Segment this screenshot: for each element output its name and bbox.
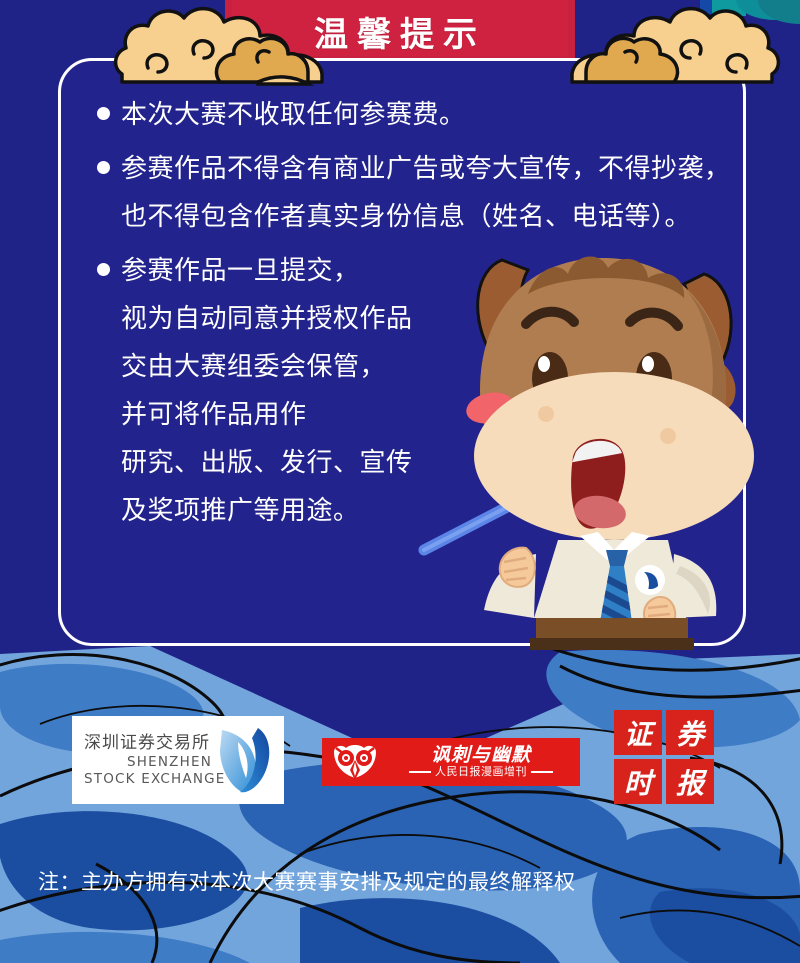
zqsb-char-4: 报 bbox=[666, 759, 714, 804]
szse-name-cn: 深圳证券交易所 bbox=[84, 732, 212, 754]
notice-line: 参赛作品不得含有商业广告或夸大宣传，不得抄袭， bbox=[121, 145, 717, 193]
rule-left bbox=[409, 771, 431, 773]
szse-shield-logo-icon bbox=[212, 724, 278, 796]
footnote-text: 注：主办方拥有对本次大赛赛事安排及规定的最终解释权 bbox=[38, 866, 576, 896]
logo-shenzhen-stock-exchange: 深圳证券交易所 SHENZHEN STOCK EXCHANGE bbox=[72, 716, 284, 804]
poster-stage: 温馨提示 bbox=[0, 0, 800, 963]
owl-pen-icon bbox=[328, 742, 382, 782]
satire-humor-text-block: 讽刺与幽默 人民日报漫画增刊 bbox=[382, 745, 580, 779]
list-item: 参赛作品不得含有商业广告或夸大宣传，不得抄袭， 也不得包含作者真实身份信息（姓名… bbox=[83, 145, 717, 241]
zqsb-char-3: 时 bbox=[614, 759, 662, 804]
ox-mascot-icon bbox=[418, 250, 788, 650]
rule-right bbox=[531, 771, 553, 773]
szse-name-en-line2: STOCK EXCHANGE bbox=[84, 771, 212, 788]
satire-humor-subtitle: 人民日报漫画增刊 bbox=[435, 765, 527, 779]
logo-satire-and-humor: 讽刺与幽默 人民日报漫画增刊 bbox=[322, 738, 580, 786]
bullet-dot-icon bbox=[97, 161, 110, 174]
szse-text-block: 深圳证券交易所 SHENZHEN STOCK EXCHANGE bbox=[72, 732, 212, 788]
list-item: 本次大赛不收取任何参赛费。 bbox=[83, 91, 717, 139]
logo-securities-times: 证 券 时 报 bbox=[614, 710, 714, 804]
banner-title: 温馨提示 bbox=[0, 0, 800, 62]
bullet-dot-icon bbox=[97, 107, 110, 120]
zqsb-char-2: 券 bbox=[666, 710, 714, 755]
satire-humor-subtitle-row: 人民日报漫画增刊 bbox=[409, 765, 553, 779]
notice-line: 也不得包含作者真实身份信息（姓名、电话等）。 bbox=[121, 193, 717, 241]
szse-name-en-line1: SHENZHEN bbox=[84, 754, 212, 771]
bullet-dot-icon bbox=[97, 263, 110, 276]
zqsb-char-1: 证 bbox=[614, 710, 662, 755]
notice-line: 本次大赛不收取任何参赛费。 bbox=[121, 91, 717, 139]
satire-humor-title: 讽刺与幽默 bbox=[431, 745, 531, 765]
